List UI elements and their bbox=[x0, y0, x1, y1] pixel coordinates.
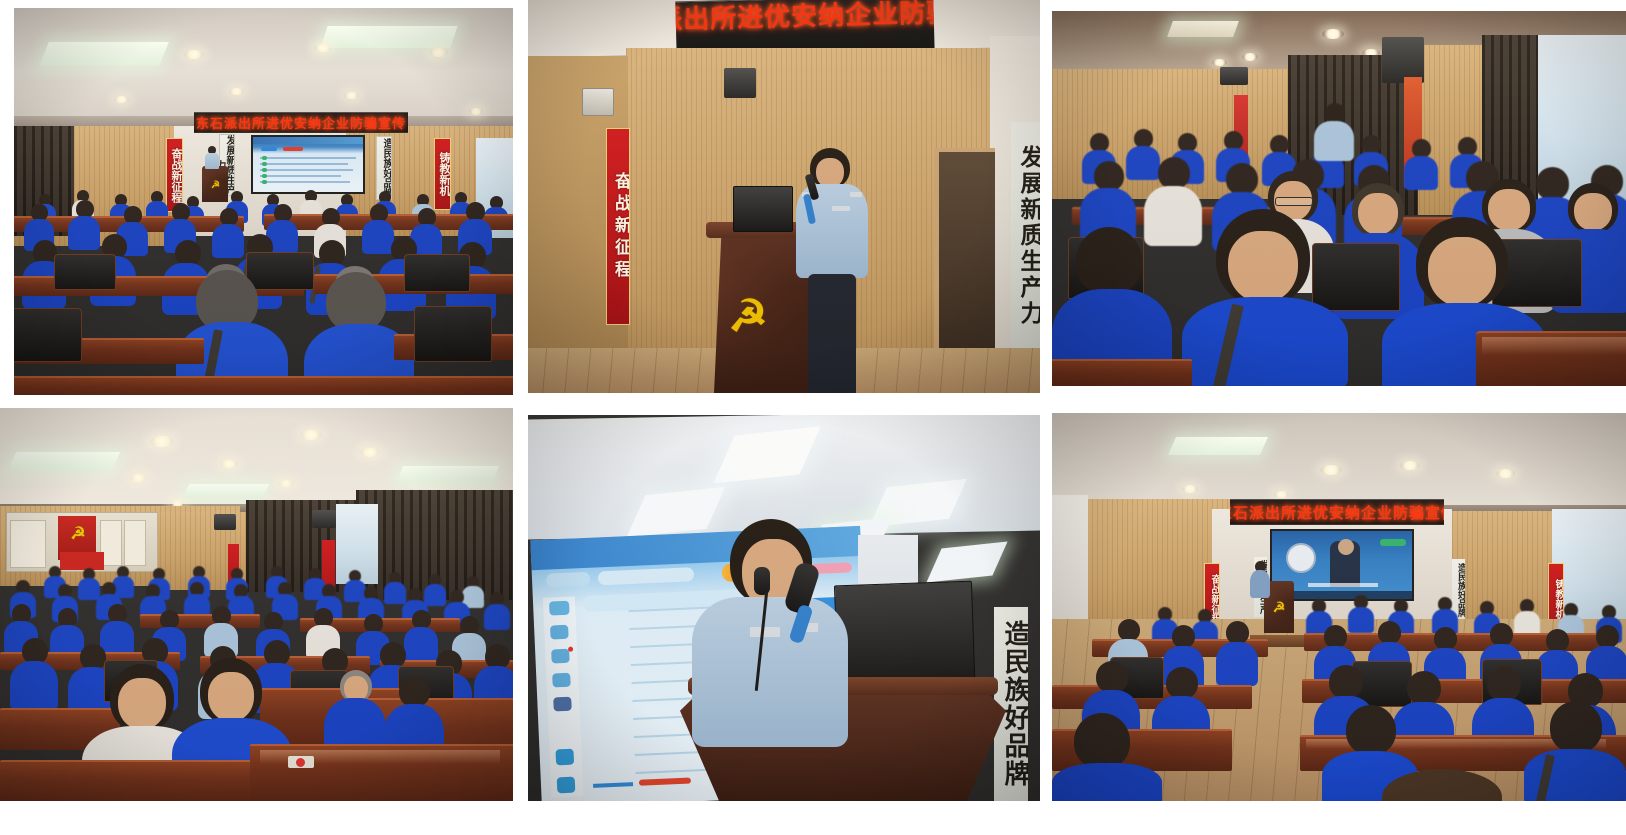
red-scroll-podium: 奋战新征程 bbox=[606, 128, 630, 325]
podium-monitor bbox=[733, 186, 793, 232]
party-emblem-icon-podium: ☭ bbox=[724, 292, 772, 340]
photo-collage: 东石派出所进优安纳企业防骗宣传 奋战新征程 发展新质生产力 造民族好品 bbox=[0, 0, 1626, 835]
speaker-officer bbox=[796, 148, 868, 393]
photo-top-left: 东石派出所进优安纳企业防骗宣传 奋战新征程 发展新质生产力 造民族好品 bbox=[14, 8, 513, 395]
photo-bottom-center: 造民族好品牌 bbox=[528, 415, 1040, 801]
photo-top-center: 东石派出所进优安纳企业防骗宣传 奋战新征程 发展新质生产力 ☭ bbox=[528, 0, 1040, 393]
photo-top-right bbox=[1052, 11, 1626, 386]
photo-bottom-right: 东石派出所进优安纳企业防骗宣传 奋战新征程 铸教新机 发展新质生产力 造民族好品… bbox=[1052, 413, 1626, 801]
audience-crowd bbox=[14, 8, 513, 395]
head-foreground-bottom bbox=[1382, 769, 1502, 801]
woman-front-looking-down bbox=[1182, 209, 1348, 386]
white-scroll-podium: 发展新质生产力 bbox=[1011, 122, 1040, 350]
led-banner-text-partial: 东石派出所进优安纳企业防骗宣传 bbox=[675, 0, 934, 38]
photo-bottom-left: ☭ bbox=[0, 408, 513, 801]
standing-man bbox=[1314, 103, 1354, 159]
speaker-officer-closeup bbox=[692, 519, 848, 749]
white-scroll-bottom-center: 造民族好品牌 bbox=[994, 607, 1028, 801]
